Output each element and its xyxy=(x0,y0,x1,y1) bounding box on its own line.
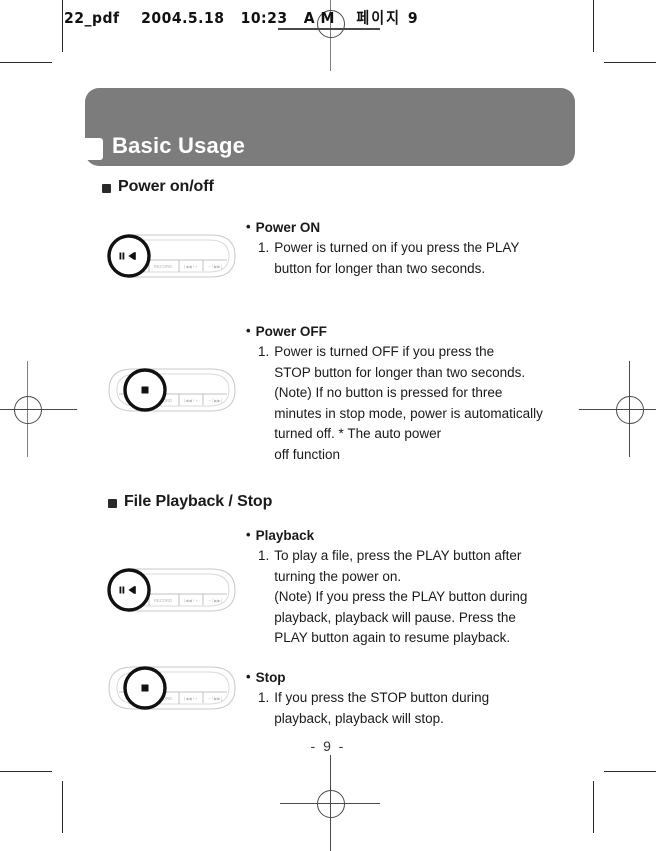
device-button-label-prev: |◀◀ / + xyxy=(184,398,198,403)
device-button-label-next: – / ▶▶| xyxy=(208,398,221,403)
step-line: If you press the STOP button during xyxy=(274,688,489,709)
manual-page: Basic Usage Power on/off • Power ON 1. P… xyxy=(0,0,656,833)
device-button-label-prev: |◀◀ / + xyxy=(184,264,198,269)
numbered-step: 1. If you press the STOP button during p… xyxy=(246,688,489,729)
step-number: 1. xyxy=(258,342,269,465)
block-title: Playback xyxy=(256,528,315,543)
step-line: STOP button for longer than two seconds. xyxy=(274,363,543,384)
device-illustration-stop-2: RECORD |◀◀ / + – / ▶▶| xyxy=(103,664,238,712)
device-illustration-play-pause-2: RECORD |◀◀ / + – / ▶▶| xyxy=(103,566,238,614)
step-text: Power is turned OFF if you press the STO… xyxy=(274,342,543,465)
step-line: Power is turned on if you press the PLAY xyxy=(274,238,519,259)
section-heading-label: File Playback / Stop xyxy=(124,493,272,511)
step-line: off function xyxy=(274,445,543,466)
block-title-row: • Playback xyxy=(246,528,527,543)
page-number: - 9 - xyxy=(0,738,656,754)
round-bullet-icon: • xyxy=(246,324,251,339)
round-bullet-icon: • xyxy=(246,670,251,685)
device-button-label-record: RECORD xyxy=(154,598,172,603)
device-diagram: RECORD |◀◀ / + – / ▶▶| xyxy=(103,366,238,414)
step-line: minutes in stop mode, power is automatic… xyxy=(274,404,543,425)
step-line: Power is turned OFF if you press the xyxy=(274,342,543,363)
step-number: 1. xyxy=(258,546,269,649)
instruction-block-power-off: • Power OFF 1. Power is turned OFF if yo… xyxy=(246,324,543,465)
section-heading-label: Power on/off xyxy=(118,178,214,196)
block-title-row: • Stop xyxy=(246,670,489,685)
numbered-step: 1. Power is turned on if you press the P… xyxy=(246,238,519,279)
step-number: 1. xyxy=(258,238,269,279)
block-title: Power ON xyxy=(256,220,321,235)
block-title: Power OFF xyxy=(256,324,327,339)
step-text: Power is turned on if you press the PLAY… xyxy=(274,238,519,279)
round-bullet-icon: • xyxy=(246,528,251,543)
block-title-row: • Power ON xyxy=(246,220,519,235)
instruction-block-stop: • Stop 1. If you press the STOP button d… xyxy=(246,670,489,729)
device-button-label-record: RECORD xyxy=(154,264,172,269)
page-title: Basic Usage xyxy=(112,133,245,159)
block-title-row: • Power OFF xyxy=(246,324,543,339)
step-text: If you press the STOP button during play… xyxy=(274,688,489,729)
stop-icon xyxy=(142,685,149,692)
step-line: To play a file, press the PLAY button af… xyxy=(274,546,527,567)
step-text: To play a file, press the PLAY button af… xyxy=(274,546,527,649)
step-line: playback, playback will pause. Press the xyxy=(274,608,527,629)
section-heading-power-on-off: Power on/off xyxy=(102,178,214,196)
step-line: turning the power on. xyxy=(274,567,527,588)
device-button-label-next: – / ▶▶| xyxy=(208,598,221,603)
step-line: PLAY button again to resume playback. xyxy=(274,628,527,649)
stop-icon xyxy=(142,387,149,394)
instruction-block-playback: • Playback 1. To play a file, press the … xyxy=(246,528,527,649)
square-bullet-icon xyxy=(108,499,117,508)
instruction-block-power-on: • Power ON 1. Power is turned on if you … xyxy=(246,220,519,279)
numbered-step: 1. Power is turned OFF if you press the … xyxy=(246,342,543,465)
numbered-step: 1. To play a file, press the PLAY button… xyxy=(246,546,527,649)
step-line: (Note) If you press the PLAY button duri… xyxy=(274,587,527,608)
device-diagram: RECORD |◀◀ / + – / ▶▶| xyxy=(103,232,238,280)
device-diagram: RECORD |◀◀ / + – / ▶▶| xyxy=(103,566,238,614)
banner-tab-marker xyxy=(79,138,103,160)
step-number: 1. xyxy=(258,688,269,729)
block-title: Stop xyxy=(256,670,286,685)
device-button-label-next: – / ▶▶| xyxy=(208,696,221,701)
step-line: playback, playback will stop. xyxy=(274,709,489,730)
device-illustration-stop-1: RECORD |◀◀ / + – / ▶▶| xyxy=(103,366,238,414)
device-diagram: RECORD |◀◀ / + – / ▶▶| xyxy=(103,664,238,712)
step-line: (Note) If no button is pressed for three xyxy=(274,383,543,404)
square-bullet-icon xyxy=(102,184,111,193)
step-line: turned off. * The auto power xyxy=(274,424,543,445)
device-button-label-prev: |◀◀ / + xyxy=(184,696,198,701)
device-button-label-next: – / ▶▶| xyxy=(208,264,221,269)
step-line: button for longer than two seconds. xyxy=(274,259,519,280)
section-heading-file-playback-stop: File Playback / Stop xyxy=(108,493,272,511)
device-illustration-play-pause: RECORD |◀◀ / + – / ▶▶| xyxy=(103,232,238,280)
round-bullet-icon: • xyxy=(246,220,251,235)
device-button-label-prev: |◀◀ / + xyxy=(184,598,198,603)
